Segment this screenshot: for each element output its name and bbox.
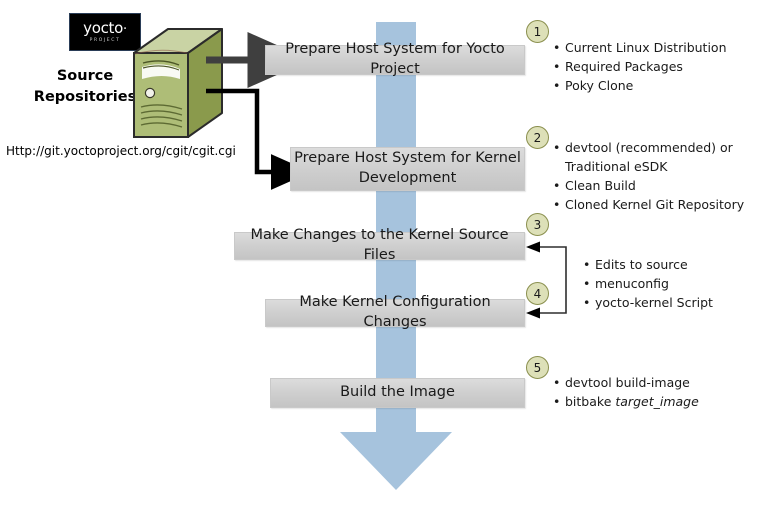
list-item: Cloned Kernel Git Repository [553,195,753,214]
step-number-4: 4 [526,282,549,305]
bullet-list-step-5: devtool build-image bitbake target_image [553,373,753,411]
step-number-5: 5 [526,356,549,379]
step-number-1: 1 [526,20,549,43]
list-item: Clean Build [553,176,753,195]
list-item: Edits to source [583,255,763,274]
list-item: Current Linux Distribution [553,38,753,57]
list-item: Required Packages [553,57,753,76]
list-item: menuconfig [583,274,763,293]
list-item-text: bitbake [565,394,615,409]
list-item: yocto-kernel Script [583,293,763,312]
list-item: bitbake target_image [553,392,753,411]
step-number-3: 3 [526,213,549,236]
process-box-step-4[interactable]: Make Kernel Configuration Changes [265,299,525,327]
list-item: devtool (recommended) or Traditional eSD… [553,138,753,176]
bullet-list-steps-3-4: Edits to source menuconfig yocto-kernel … [583,255,763,312]
process-box-step-5[interactable]: Build the Image [270,378,525,408]
diagram-canvas: yocto· PROJECT Source Repositories Http:… [0,0,769,517]
bullet-list-step-1: Current Linux Distribution Required Pack… [553,38,753,95]
list-item-emphasis: target_image [615,394,698,409]
process-box-step-3[interactable]: Make Changes to the Kernel Source Files [234,232,525,260]
step-number-2: 2 [526,126,549,149]
process-box-step-2[interactable]: Prepare Host System for Kernel Developme… [290,147,525,191]
process-box-step-1[interactable]: Prepare Host System for Yocto Project [265,45,525,75]
list-item: Poky Clone [553,76,753,95]
bullet-list-step-2: devtool (recommended) or Traditional eSD… [553,138,753,214]
list-item-text: devtool build-image [565,375,690,390]
list-item: devtool build-image [553,373,753,392]
